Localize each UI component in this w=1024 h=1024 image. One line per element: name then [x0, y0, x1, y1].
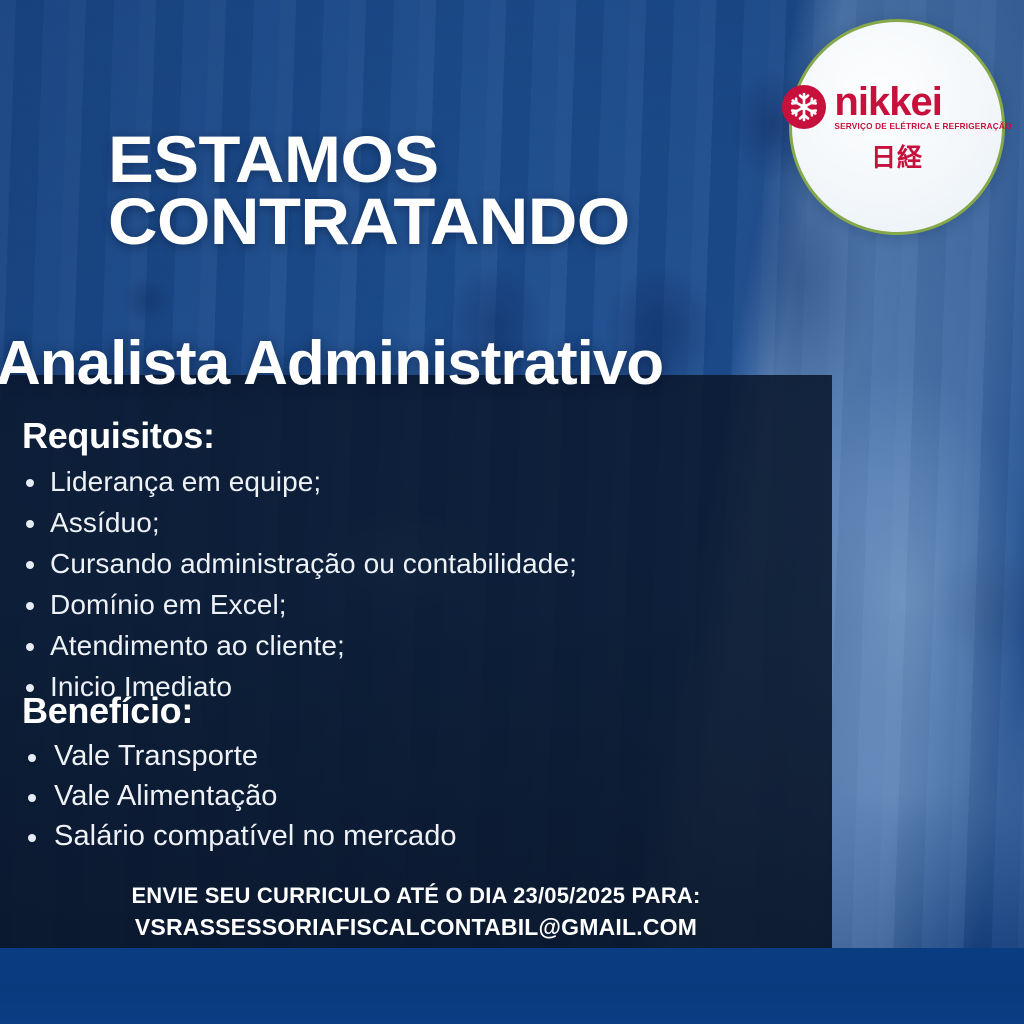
brand-text-stack: nikkei SERVIÇO DE ELÉTRICA E REFRIGERAÇÃ…	[834, 84, 1011, 132]
job-title: Analista Administrativo	[0, 333, 663, 395]
headline-line-2: CONTRATANDO	[108, 190, 630, 252]
benefits-list: Vale Transporte Vale Alimentação Salário…	[18, 742, 457, 862]
requirements-heading: Requisitos:	[22, 415, 215, 457]
brand-tagline: SERVIÇO DE ELÉTRICA E REFRIGERAÇÃO	[834, 122, 1011, 131]
list-item: Salário compatível no mercado	[18, 822, 457, 851]
brand-japanese-name: 日経	[871, 138, 923, 174]
list-item: Domínio em Excel;	[18, 591, 577, 619]
list-item: Atendimento ao cliente;	[18, 632, 577, 660]
contact-call-to-action: ENVIE SEU CURRICULO ATÉ O DIA 23/05/2025…	[131, 883, 700, 908]
list-item: Vale Alimentação	[18, 782, 457, 811]
list-item: Vale Transporte	[18, 742, 457, 771]
list-item: Assíduo;	[18, 509, 577, 537]
contact-email[interactable]: VSRASSESSORIAFISCALCONTABIL@GMAIL.COM	[0, 911, 832, 944]
logo-row: nikkei SERVIÇO DE ELÉTRICA E REFRIGERAÇÃ…	[782, 84, 1011, 132]
job-posting-poster: ESTAMOS CONTRATANDO Analista Administrat…	[0, 0, 1024, 1024]
contact-block: ENVIE SEU CURRICULO ATÉ O DIA 23/05/2025…	[0, 880, 832, 944]
list-item: Liderança em equipe;	[18, 468, 577, 496]
bottom-color-band	[0, 948, 1024, 1024]
brand-name: nikkei	[834, 84, 941, 121]
snowflake-icon	[782, 85, 826, 129]
benefits-heading: Benefício:	[22, 690, 193, 732]
requirements-list: Liderança em equipe; Assíduo; Cursando a…	[18, 468, 577, 714]
headline: ESTAMOS CONTRATANDO	[108, 128, 630, 252]
company-logo-badge: nikkei SERVIÇO DE ELÉTRICA E REFRIGERAÇÃ…	[789, 19, 1005, 235]
list-item: Cursando administração ou contabilidade;	[18, 550, 577, 578]
